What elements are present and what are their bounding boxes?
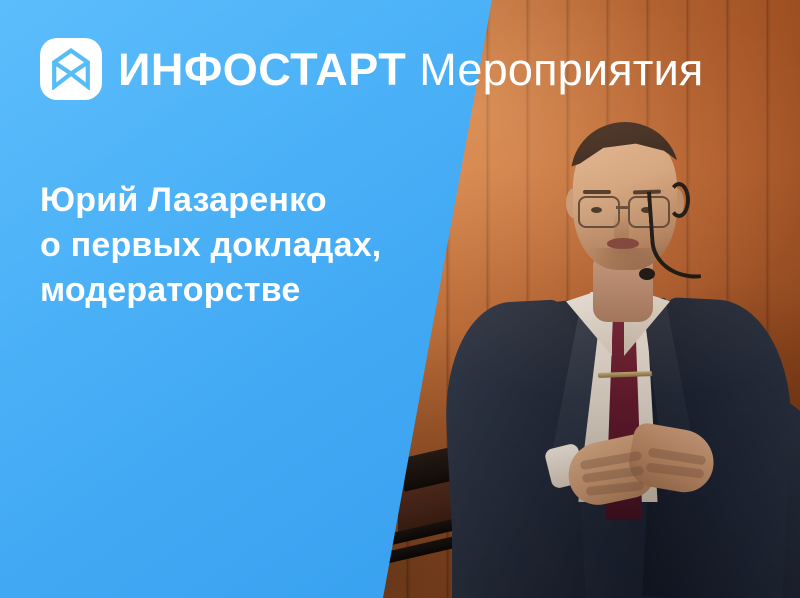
- headline-line-1: Юрий Лазаренко: [40, 178, 381, 223]
- headset-microphone-capsule: [639, 268, 655, 280]
- brand-logo-text: ИНФОСТАРТ Мероприятия: [118, 47, 704, 92]
- eyebrow-left: [583, 190, 611, 194]
- brand-name: ИНФОСТАРТ: [118, 47, 406, 92]
- headline-line-3: модераторстве: [40, 268, 381, 313]
- brand-logo[interactable]: ИНФОСТАРТ Мероприятия: [40, 38, 704, 100]
- brand-section: Мероприятия: [419, 47, 703, 92]
- eye-left: [591, 207, 602, 213]
- headline-line-2: о первых докладах,: [40, 223, 381, 268]
- infostart-house-icon: [40, 38, 102, 100]
- headline: Юрий Лазаренко о первых докладах, модера…: [40, 178, 381, 314]
- eyeglasses-bridge: [616, 206, 628, 209]
- event-banner: ИНФОСТАРТ Мероприятия Юрий Лазаренко о п…: [0, 0, 800, 598]
